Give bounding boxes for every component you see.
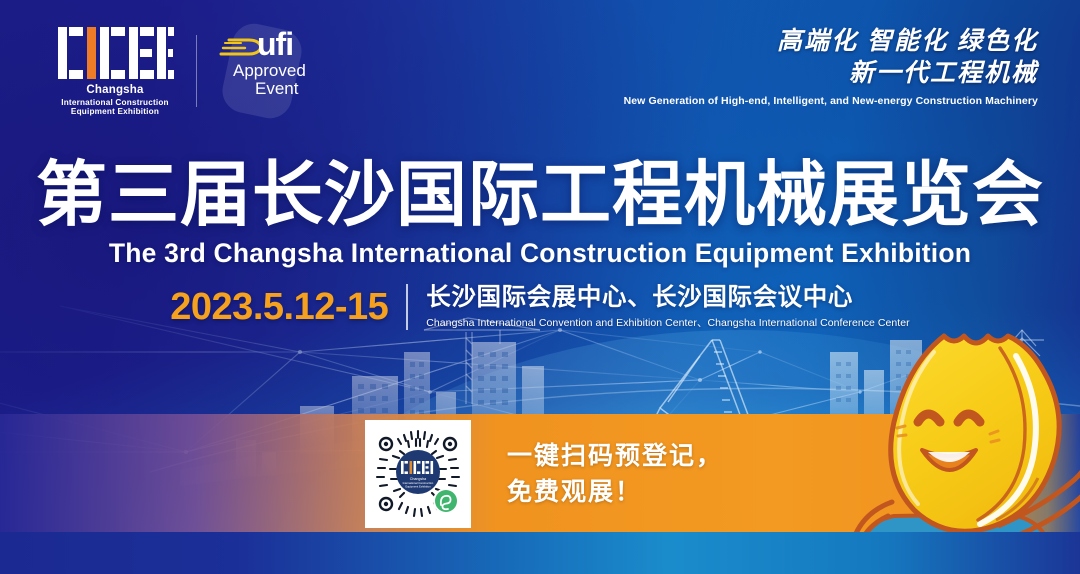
- cicee-logo: Changsha International Construction Equi…: [56, 25, 174, 117]
- event-info-row: 2023.5.12-15 长沙国际会展中心、长沙国际会议中心 Changsha …: [0, 284, 1080, 330]
- cta-content: Changsha International Construction Equi…: [365, 420, 723, 528]
- cicee-wordmark-icon: [56, 25, 174, 81]
- cicee-sub-line1: Changsha: [61, 84, 169, 98]
- tagline-line2: 新一代工程机械: [624, 58, 1038, 90]
- svg-text:Changsha: Changsha: [410, 477, 426, 481]
- qr-code-card[interactable]: Changsha International Construction Equi…: [365, 420, 471, 528]
- info-divider: [406, 284, 408, 330]
- ufi-wordmark: ufi: [257, 28, 293, 60]
- cicee-sub-line2: International Construction: [61, 98, 169, 108]
- svg-text:Equipment Exhibition: Equipment Exhibition: [405, 485, 431, 489]
- tagline-keyword-intelligent: 智能化: [867, 27, 948, 55]
- tagline-line1: 高端化智能化绿色化: [624, 26, 1038, 58]
- event-date: 2023.5.12-15: [170, 288, 388, 326]
- cta-line1: 一键扫码预登记，: [507, 438, 723, 474]
- logo-divider: [196, 35, 197, 107]
- venue-block: 长沙国际会展中心、长沙国际会议中心 Changsha International…: [426, 284, 909, 330]
- ufi-event-label: Event: [255, 80, 298, 98]
- cta-line2: 免费观展！: [507, 474, 723, 510]
- tagline-keyword-green: 绿色化: [957, 27, 1038, 55]
- venue-name-english: Changsha International Convention and Ex…: [426, 315, 909, 330]
- logo-row: Changsha International Construction Equi…: [56, 24, 323, 118]
- cicee-sub-line3: Equipment Exhibition: [61, 107, 169, 117]
- title-block: 第三届长沙国际工程机械展览会 The 3rd Changsha Internat…: [0, 160, 1080, 269]
- ufi-approved-label: Approved: [233, 62, 306, 80]
- event-banner: Changsha International Construction Equi…: [0, 0, 1080, 574]
- venue-name-chinese: 长沙国际会展中心、长沙国际会议中心: [426, 284, 909, 312]
- page-title-english: The 3rd Changsha International Construct…: [0, 238, 1080, 269]
- svg-text:International Construction: International Construction: [403, 481, 434, 485]
- ufi-approved-event-logo: ufi Approved Event: [219, 24, 323, 118]
- cta-text-block: 一键扫码预登记， 免费观展！: [507, 438, 723, 511]
- tagline-keyword-highend: 高端化: [777, 27, 858, 55]
- bottom-strip: [0, 532, 1080, 574]
- page-title: 第三届长沙国际工程机械展览会: [0, 160, 1080, 232]
- cicee-logo-subtext: Changsha International Construction Equi…: [61, 84, 169, 117]
- tagline-block: 高端化智能化绿色化 新一代工程机械 New Generation of High…: [624, 26, 1038, 107]
- tagline-english: New Generation of High-end, Intelligent,…: [624, 95, 1038, 107]
- wechat-miniprogram-qr-icon[interactable]: Changsha International Construction Equi…: [370, 425, 466, 523]
